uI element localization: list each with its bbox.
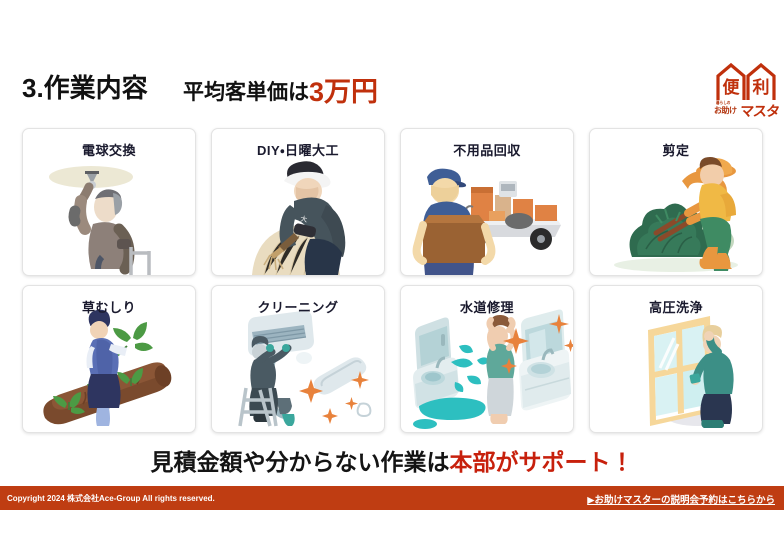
average-price-text: 平均客単価は3万円 bbox=[183, 70, 378, 109]
service-card-junk-removal[interactable]: 不用品回収 bbox=[400, 128, 574, 276]
service-card-label: 電球交換 bbox=[23, 140, 195, 159]
service-card-light-bulb[interactable]: 電球交換 bbox=[22, 128, 196, 276]
logo-wordmark: 暮らしの お助け マスター bbox=[712, 100, 780, 122]
support-banner: 見積金額や分からない作業は本部がサポート！ bbox=[0, 443, 784, 477]
copyright-text: Copyright 2024 株式会社Ace-Group All rights … bbox=[7, 493, 215, 504]
service-card-diy[interactable]: DIY・日曜大工 bbox=[211, 128, 385, 276]
brand-logo: 便 利 暮らしの お助け マスター bbox=[712, 60, 780, 122]
service-card-label: 不用品回収 bbox=[401, 140, 573, 159]
support-banner-highlight: 本部がサポート！ bbox=[450, 449, 634, 475]
support-banner-plain: 見積金額や分からない作業は bbox=[151, 449, 450, 475]
page-title: 3.作業内容 bbox=[22, 68, 148, 105]
service-card-grid: 電球交換 bbox=[22, 128, 762, 431]
service-card-label: 水道修理 bbox=[401, 297, 573, 316]
service-card-label: 草むしり bbox=[23, 297, 195, 316]
service-card-label: DIY・日曜大工 bbox=[212, 140, 384, 159]
service-card-weeding[interactable]: 草むしり bbox=[22, 285, 196, 433]
service-card-label: クリーニング bbox=[212, 297, 384, 316]
service-card-plumbing[interactable]: 水道修理 bbox=[400, 285, 574, 433]
logo-otasuke-text: お助け bbox=[714, 105, 737, 116]
footer-bar: Copyright 2024 株式会社Ace-Group All rights … bbox=[0, 486, 784, 510]
service-card-high-pressure-washing[interactable]: 高圧洗浄 bbox=[589, 285, 763, 433]
average-price-value: 3万円 bbox=[309, 77, 378, 107]
service-card-label: 剪定 bbox=[590, 140, 762, 159]
seminar-reservation-link[interactable]: ▶お助けマスターの説明会予約はこちらから bbox=[587, 492, 775, 506]
service-card-label: 高圧洗浄 bbox=[590, 297, 762, 316]
slide-header: 3.作業内容 平均客単価は3万円 bbox=[0, 62, 784, 122]
slide-root: 3.作業内容 平均客単価は3万円 便 利 暮らしの お助け マスター 電球交換 bbox=[0, 0, 784, 560]
logo-char-benri-left: 便 bbox=[721, 72, 741, 98]
service-card-cleaning[interactable]: クリーニング bbox=[211, 285, 385, 433]
logo-char-benri-right: 利 bbox=[751, 72, 771, 98]
average-price-label: 平均客単価は bbox=[183, 81, 309, 104]
service-card-pruning[interactable]: 剪定 bbox=[589, 128, 763, 276]
